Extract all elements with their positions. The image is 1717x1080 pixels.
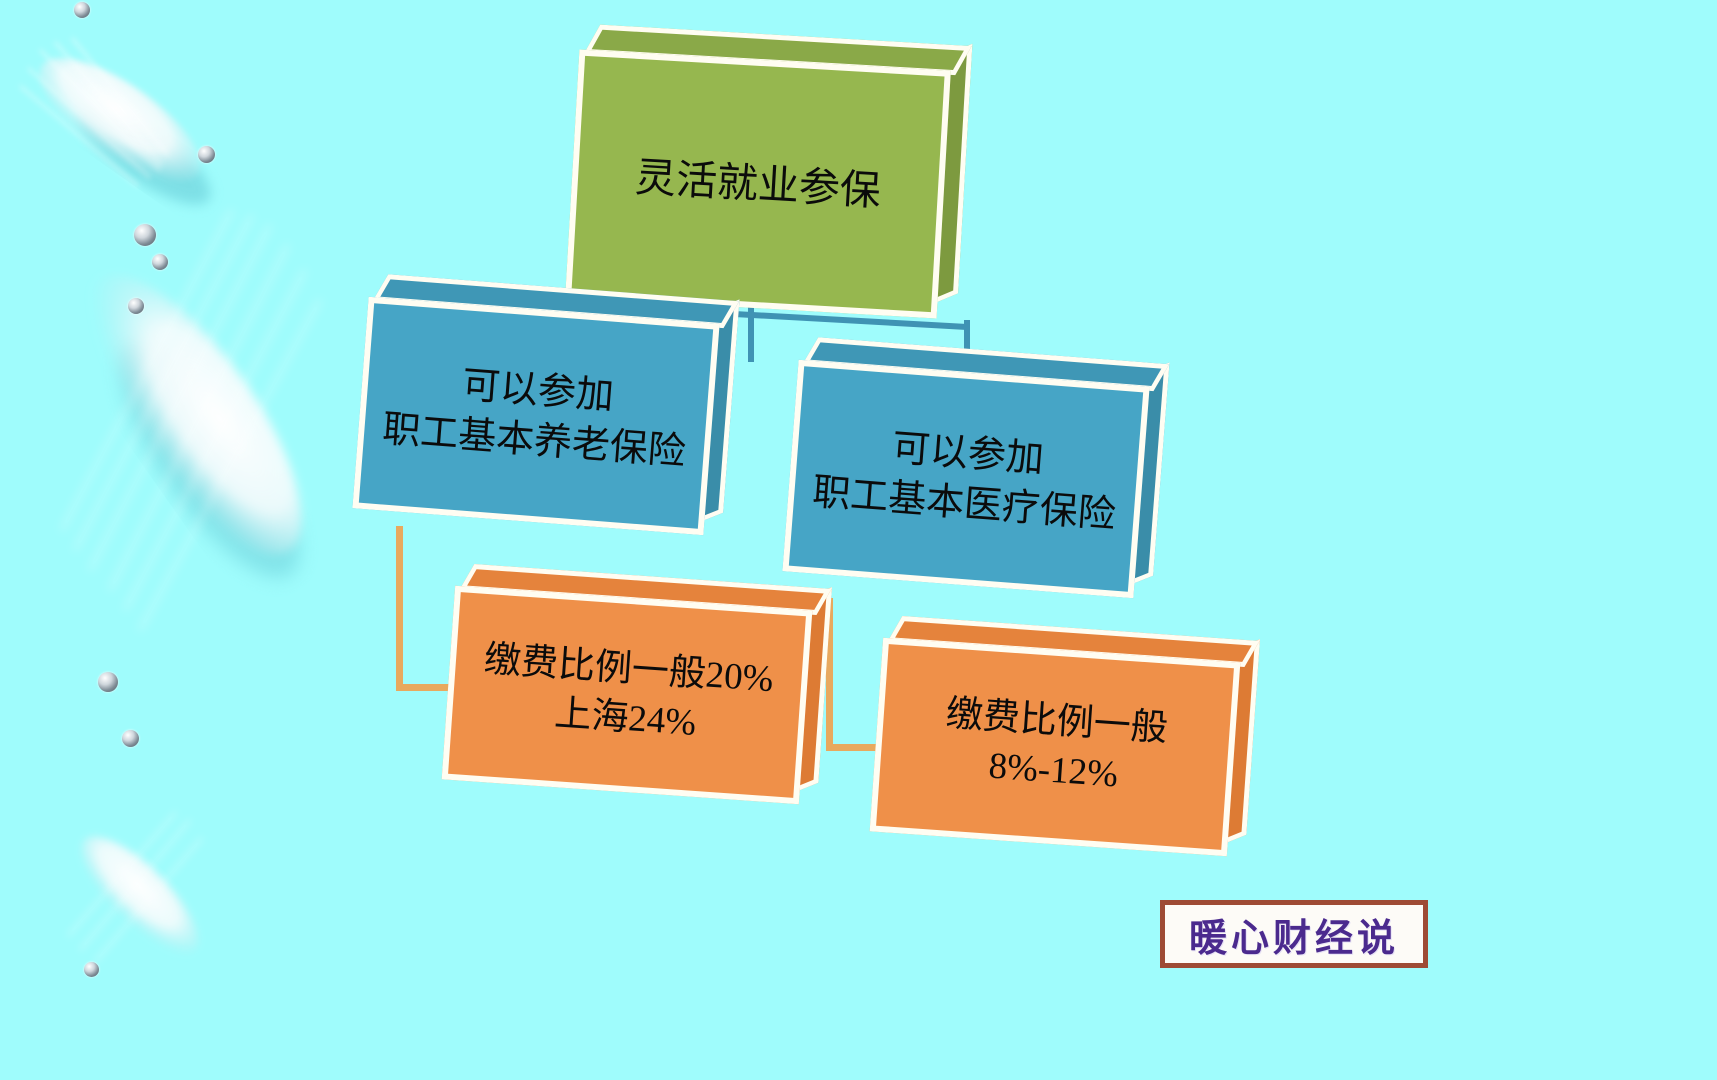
bead-decoration: [128, 298, 144, 314]
node-pension-rate-label: 缴费比例一般20% 上海24%: [469, 635, 785, 754]
bead-decoration: [134, 224, 156, 246]
bead-decoration: [152, 254, 168, 270]
bead-decoration: [198, 146, 215, 163]
feather-mid-left-icon: [20, 190, 360, 670]
node-medical-rate-face: 缴费比例一般8%-12%: [870, 638, 1241, 857]
bead-decoration: [74, 2, 90, 18]
bead-decoration: [98, 672, 118, 692]
node-pension-rate-face: 缴费比例一般20% 上海24%: [442, 586, 813, 805]
node-root-label: 灵活就业参保: [624, 149, 893, 218]
watermark-text: 暖心财经说: [1189, 907, 1399, 962]
node-medical-rate[interactable]: 缴费比例一般8%-12%: [870, 638, 1241, 857]
node-root-face: 灵活就业参保: [565, 49, 951, 318]
feather-bottom-left-icon: [40, 790, 240, 990]
connector-pension-stem: [396, 526, 403, 686]
node-pension-label: 可以参加 职工基本养老保险: [371, 354, 702, 479]
node-medical-label: 可以参加 职工基本医疗保险: [801, 417, 1132, 542]
node-root[interactable]: 灵活就业参保: [565, 49, 951, 318]
node-medical-rate-label: 缴费比例一般8%-12%: [879, 686, 1231, 808]
node-medical[interactable]: 可以参加 职工基本医疗保险: [782, 360, 1149, 598]
bead-decoration: [122, 730, 139, 747]
node-pension[interactable]: 可以参加 职工基本养老保险: [352, 297, 719, 535]
diagram-canvas: 灵活就业参保 可以参加 职工基本养老保险 可以参加 职工基本医疗保险 缴费比例一…: [0, 0, 1717, 1080]
node-medical-face: 可以参加 职工基本医疗保险: [782, 360, 1149, 598]
node-pension-face: 可以参加 职工基本养老保险: [352, 297, 719, 535]
watermark-badge: 暖心财经说: [1160, 900, 1428, 968]
bead-decoration: [84, 962, 99, 977]
feather-top-left-icon: [10, 20, 240, 230]
node-pension-rate[interactable]: 缴费比例一般20% 上海24%: [442, 586, 813, 805]
